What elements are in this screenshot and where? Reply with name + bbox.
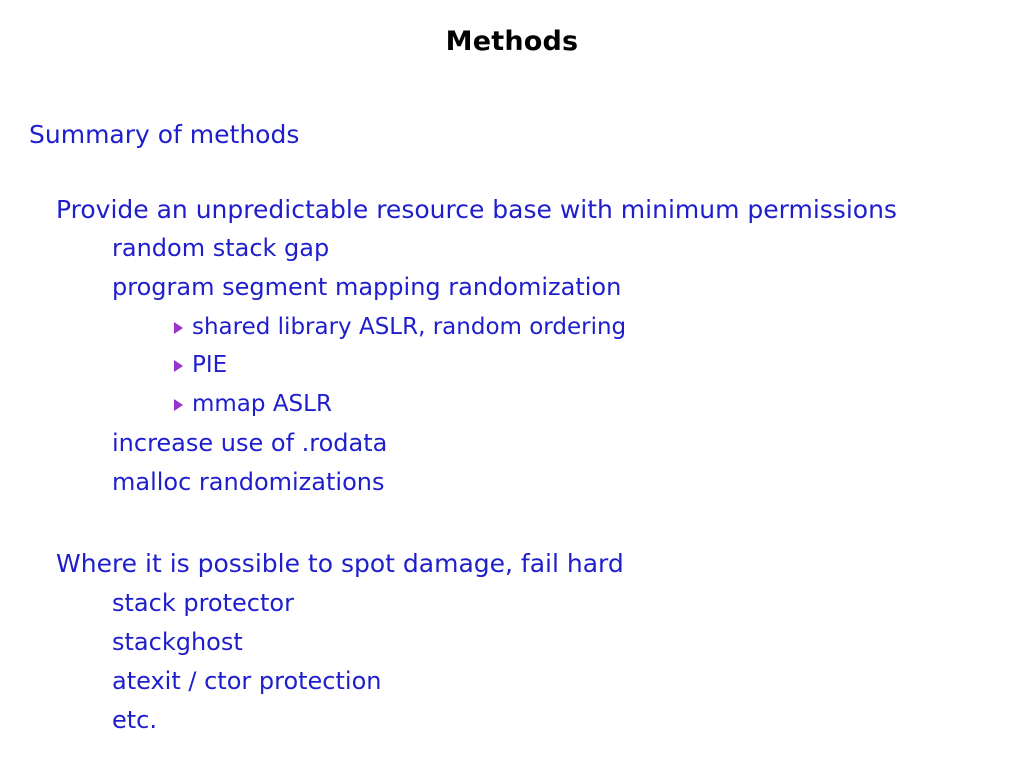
list-item: program segment mapping randomization [112, 273, 621, 302]
list-item: atexit / ctor protection [112, 667, 381, 696]
triangle-right-icon [174, 360, 183, 372]
slide-canvas: Methods Summary of methods Provide an un… [0, 0, 1024, 768]
triangle-right-icon [174, 322, 183, 334]
sub-list-item: shared library ASLR, random ordering [174, 313, 626, 341]
sub-list-item-label: mmap ASLR [192, 390, 332, 418]
list-item: increase use of .rodata [112, 429, 387, 458]
section-heading: Summary of methods [29, 120, 299, 150]
list-item: malloc randomizations [112, 468, 384, 497]
list-item: stackghost [112, 628, 243, 657]
list-item: etc. [112, 706, 157, 735]
sub-list-item: PIE [174, 351, 227, 379]
list-item: random stack gap [112, 234, 329, 263]
sub-list-item: mmap ASLR [174, 390, 332, 418]
topic-line: Provide an unpredictable resource base w… [56, 195, 897, 225]
slide-body: Summary of methods Provide an unpredicta… [0, 0, 1024, 768]
triangle-right-icon [174, 399, 183, 411]
list-item: stack protector [112, 589, 294, 618]
sub-list-item-label: PIE [192, 351, 227, 379]
sub-list-item-label: shared library ASLR, random ordering [192, 313, 626, 341]
topic-line: Where it is possible to spot damage, fai… [56, 549, 624, 579]
